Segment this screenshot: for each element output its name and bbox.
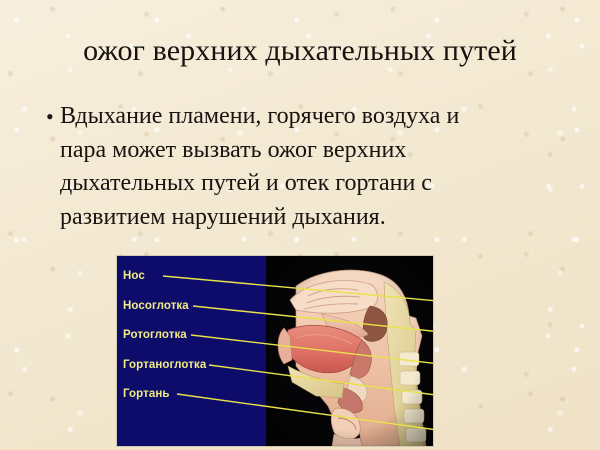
bullet-paragraph: Вдыхание пламени, горячего воздуха и пар…: [60, 100, 480, 234]
slide-canvas: ожог верхних дыхательных путей • Вдыхани…: [0, 0, 600, 450]
page-title: ожог верхних дыхательных путей: [0, 32, 600, 70]
anatomy-label-3: Гортаноглотка: [123, 359, 206, 371]
anatomy-label-1: Носоглотка: [123, 300, 189, 312]
anatomy-figure: НосНосоглоткаРотоглоткаГортаноглоткаГорт…: [117, 256, 433, 446]
figure-photo-area: [266, 256, 433, 446]
anatomy-label-4: Гортань: [123, 388, 170, 400]
list-item: • Вдыхание пламени, горячего воздуха и п…: [40, 100, 560, 234]
anatomy-label-2: Ротоглотка: [123, 329, 187, 341]
body-content: • Вдыхание пламени, горячего воздуха и п…: [40, 100, 560, 234]
figure-labels: НосНосоглоткаРотоглоткаГортаноглоткаГорт…: [117, 256, 266, 446]
head-sagittal-section-illustration: [266, 256, 433, 446]
bullet-icon: •: [40, 100, 60, 134]
anatomy-label-0: Нос: [123, 270, 145, 282]
